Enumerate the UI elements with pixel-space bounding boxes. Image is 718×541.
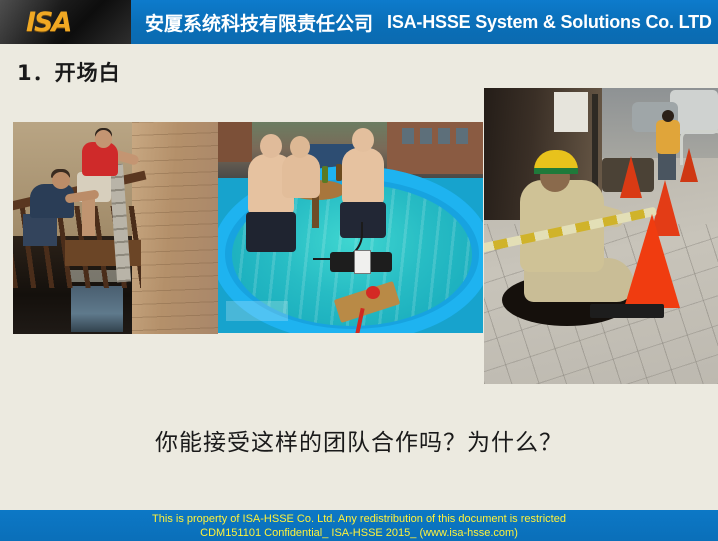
p2-window [402, 128, 414, 144]
p3-shop-poster [554, 92, 588, 132]
p2-man-2-head [290, 136, 310, 158]
company-name-cn: 安厦系统科技有限责任公司 [145, 9, 373, 36]
p2-bottle [322, 166, 328, 183]
slide-footer: This is property of ISA-HSSE Co. Ltd. An… [0, 510, 718, 541]
p1-lower-door [71, 286, 123, 332]
isa-logo: ISA [26, 7, 70, 38]
p2-man-3-torso [342, 148, 384, 206]
footer-line-2: CDM151101 Confidential_ ISA-HSSE 2015_ (… [0, 526, 718, 540]
p2-man-1-shorts [246, 212, 296, 252]
p2-man-2-torso [282, 154, 320, 198]
photo-manhole-worker [484, 88, 718, 384]
p2-building-left [218, 122, 252, 162]
p1-man-red-head [95, 130, 112, 148]
company-name-en: ISA-HSSE System & Solutions Co. LTD [387, 12, 712, 33]
p1-wall-right [132, 122, 218, 334]
p3-pedestrian-head [662, 110, 674, 122]
header-title-group: 安厦系统科技有限责任公司 ISA-HSSE System & Solutions… [145, 0, 712, 44]
p3-pedestrian-legs [658, 150, 676, 180]
question-text: 你能接受这样的团队合作吗？为什么？ [0, 423, 718, 457]
p3-traffic-cone-base [590, 304, 664, 318]
p2-window [456, 128, 468, 144]
p1-man-blue-head [52, 172, 70, 189]
p2-man-1-head [260, 134, 282, 158]
p3-pole [592, 94, 598, 190]
p2-red-object [366, 286, 380, 299]
p2-window [438, 128, 450, 144]
slide-canvas: ISA 安厦系统科技有限责任公司 ISA-HSSE System & Solut… [0, 0, 718, 541]
p3-traffic-cone-front [624, 214, 680, 308]
p3-traffic-cone-mid [620, 156, 642, 198]
photo-pool-electrical [218, 122, 483, 333]
p3-pedestrian-body [656, 120, 680, 154]
p3-traffic-cone-far [680, 148, 698, 182]
p2-window [420, 128, 432, 144]
p1-man-blue-jeans [23, 214, 57, 246]
p2-plug-adapter [354, 250, 371, 274]
p2-man-3-head [352, 128, 374, 152]
p3-hard-hat-brim [534, 168, 578, 174]
p1-man-red-leg [82, 198, 95, 236]
photo-ladder-stairwell [13, 122, 218, 334]
page-title: 1．开场白 [17, 57, 121, 87]
p2-watermark [226, 301, 288, 321]
slide-header: ISA 安厦系统科技有限责任公司 ISA-HSSE System & Solut… [0, 0, 718, 44]
footer-line-1: This is property of ISA-HSSE Co. Ltd. An… [0, 512, 718, 526]
